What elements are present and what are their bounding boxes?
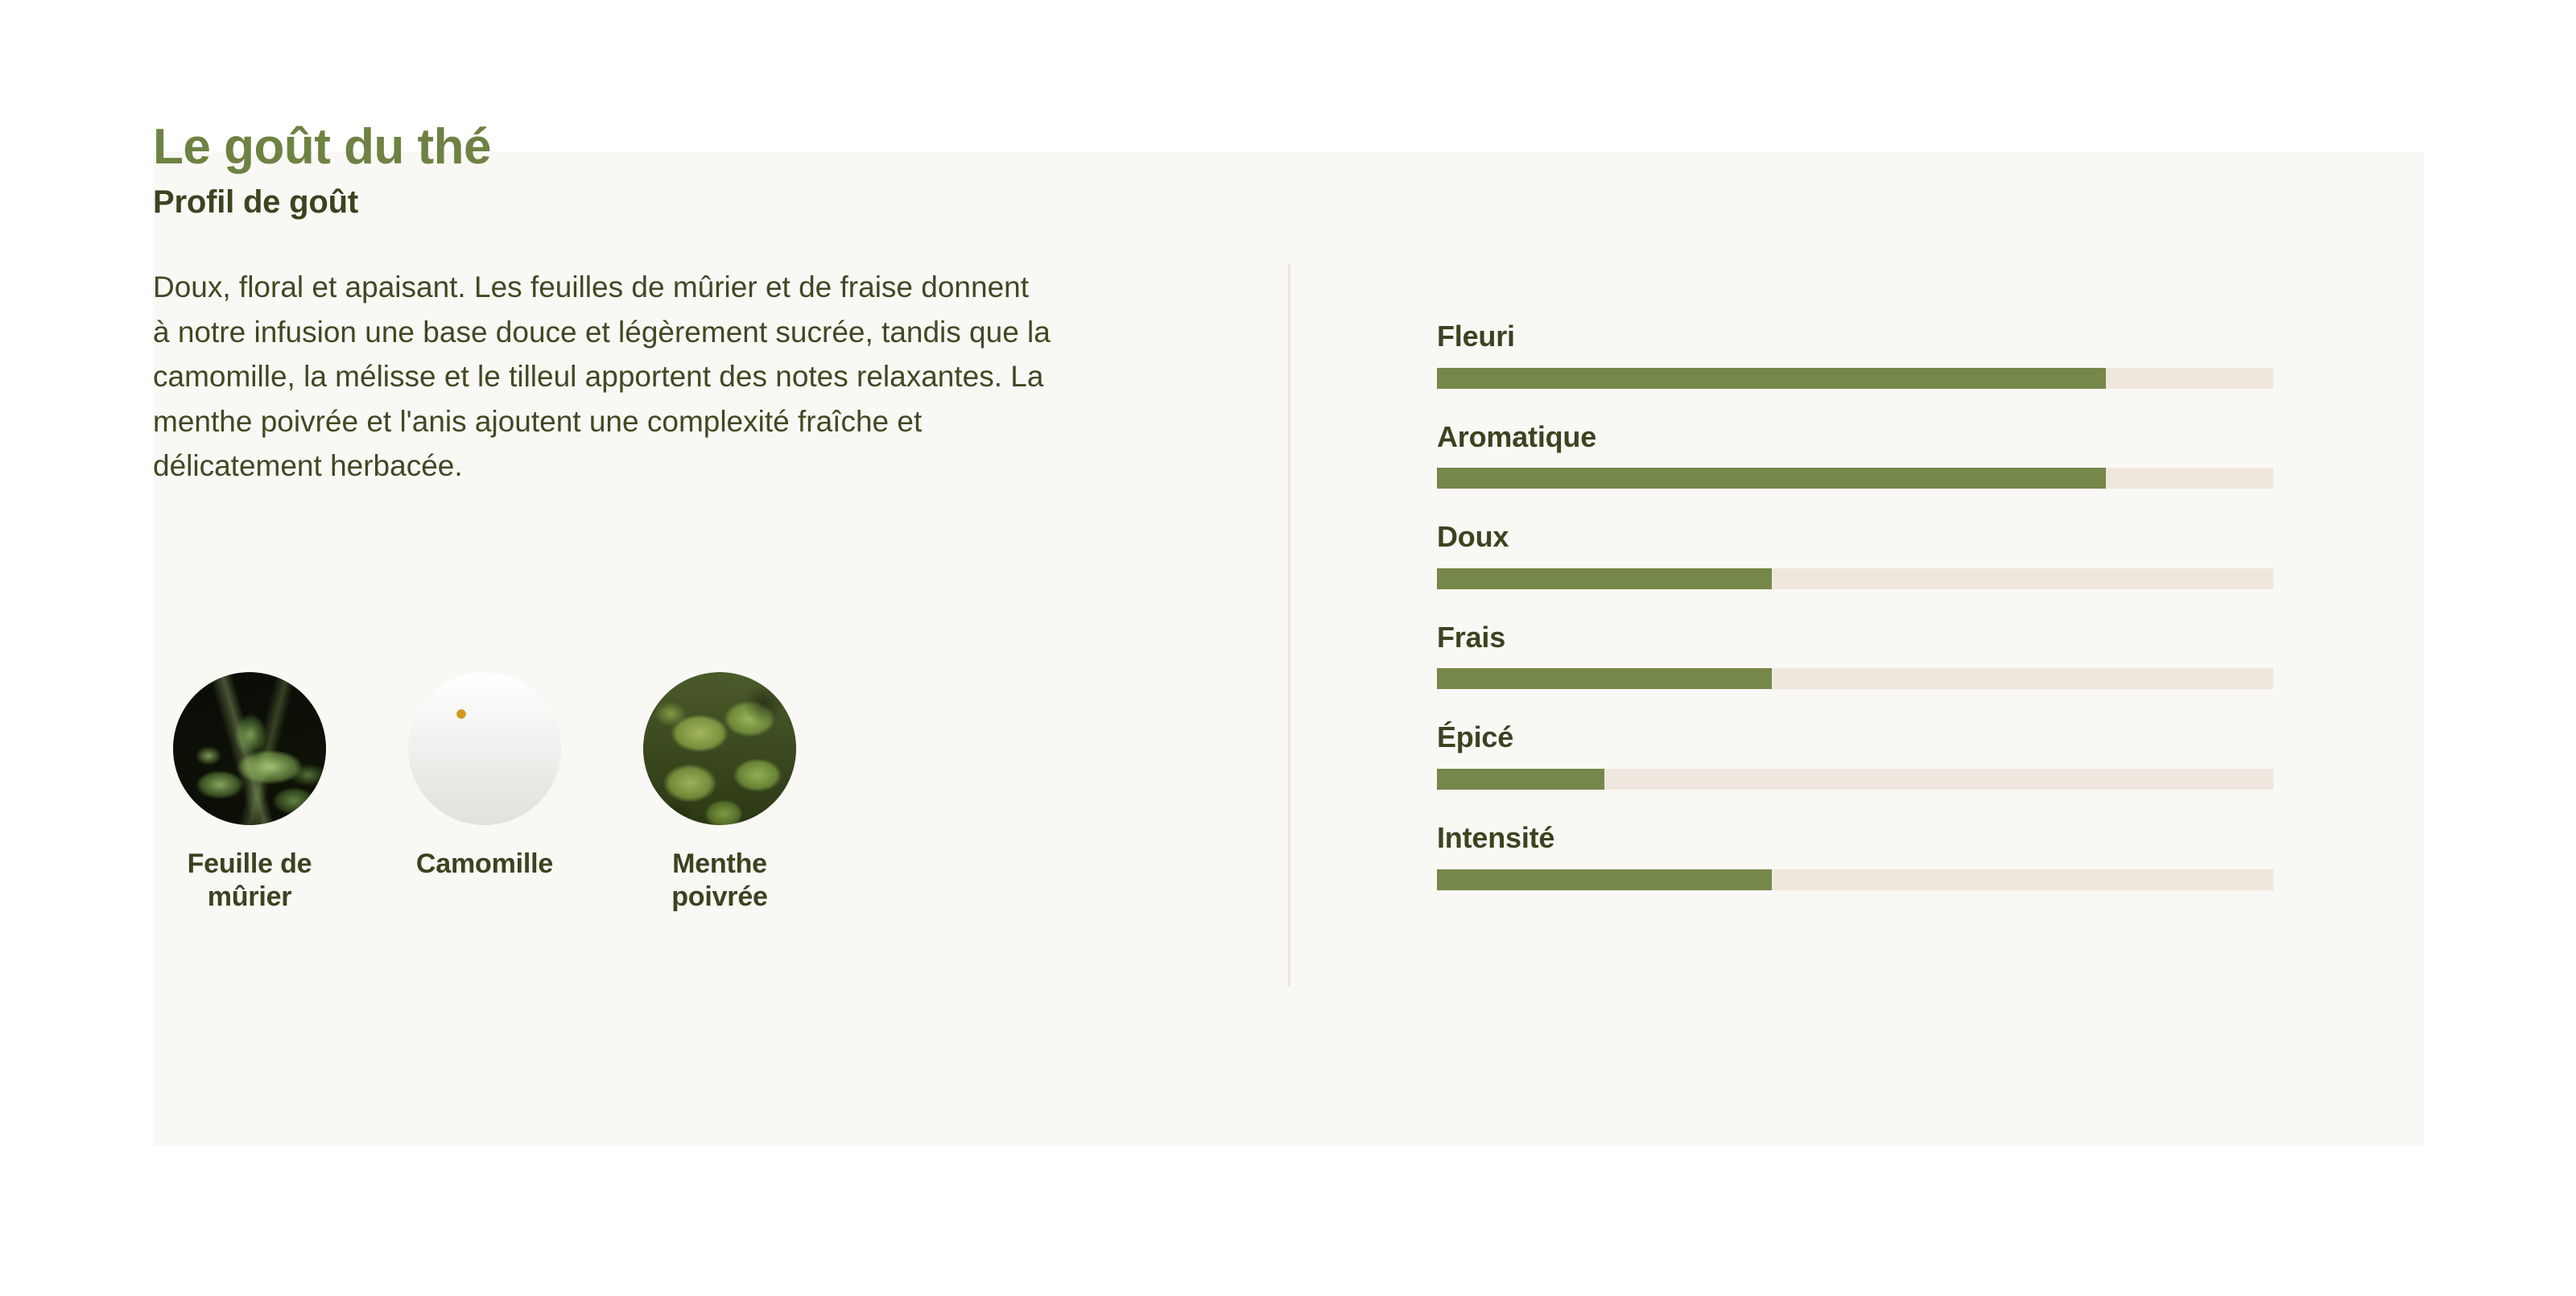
- profile-label-intensite: Intensité: [1437, 822, 2273, 854]
- profile-track-fleuri: [1437, 368, 2273, 389]
- profile-row-doux: Doux: [1437, 521, 2273, 589]
- profile-row-aromatique: Aromatique: [1437, 421, 2273, 489]
- ingredient-label-mulberry: Feuille de mûrier: [153, 848, 346, 914]
- profile-label-doux: Doux: [1437, 521, 2273, 553]
- profile-label-frais: Frais: [1437, 621, 2273, 654]
- ingredient-label-peppermint: Menthe poivrée: [623, 848, 816, 914]
- mulberry-leaf-photo: [173, 672, 326, 825]
- profile-label-fleuri: Fleuri: [1437, 320, 2273, 353]
- page-canvas: Le goût du thé Profil de goût Doux, flor…: [0, 0, 2576, 1296]
- profile-row-intensite: Intensité: [1437, 822, 2273, 890]
- page-title: Le goût du thé: [153, 121, 1103, 173]
- profile-track-aromatique: [1437, 468, 2273, 489]
- column-divider: [1288, 264, 1290, 987]
- profile-row-epice: Épicé: [1437, 721, 2273, 790]
- profile-track-epice: [1437, 769, 2273, 790]
- ingredient-label-chamomile: Camomille: [416, 848, 553, 881]
- profile-fill-fleuri: [1437, 368, 2106, 389]
- profile-row-frais: Frais: [1437, 621, 2273, 690]
- taste-profile-chart: Fleuri Aromatique Doux Frais Épicé: [1437, 320, 2273, 890]
- ingredient-item-mulberry[interactable]: Feuille de mûrier: [153, 672, 346, 914]
- profile-track-intensite: [1437, 869, 2273, 890]
- page-subtitle: Profil de goût: [153, 184, 1103, 220]
- left-content-column: Le goût du thé Profil de goût Doux, flor…: [153, 121, 1103, 489]
- profile-fill-intensite: [1437, 869, 1772, 890]
- profile-fill-doux: [1437, 568, 1772, 589]
- profile-label-aromatique: Aromatique: [1437, 421, 2273, 453]
- ingredient-list: Feuille de mûrier Camomille Menthe poivr…: [153, 672, 816, 914]
- profile-fill-aromatique: [1437, 468, 2106, 489]
- profile-label-epice: Épicé: [1437, 721, 2273, 753]
- tea-description: Doux, floral et apaisant. Les feuilles d…: [153, 265, 1051, 489]
- profile-track-doux: [1437, 568, 2273, 589]
- profile-fill-epice: [1437, 769, 1604, 790]
- ingredient-item-chamomile[interactable]: Camomille: [388, 672, 581, 914]
- peppermint-leaves-photo: [643, 672, 796, 825]
- ingredient-item-peppermint[interactable]: Menthe poivrée: [623, 672, 816, 914]
- chamomile-flowers-photo: [408, 672, 561, 825]
- profile-row-fleuri: Fleuri: [1437, 320, 2273, 389]
- profile-fill-frais: [1437, 668, 1772, 689]
- profile-track-frais: [1437, 668, 2273, 689]
